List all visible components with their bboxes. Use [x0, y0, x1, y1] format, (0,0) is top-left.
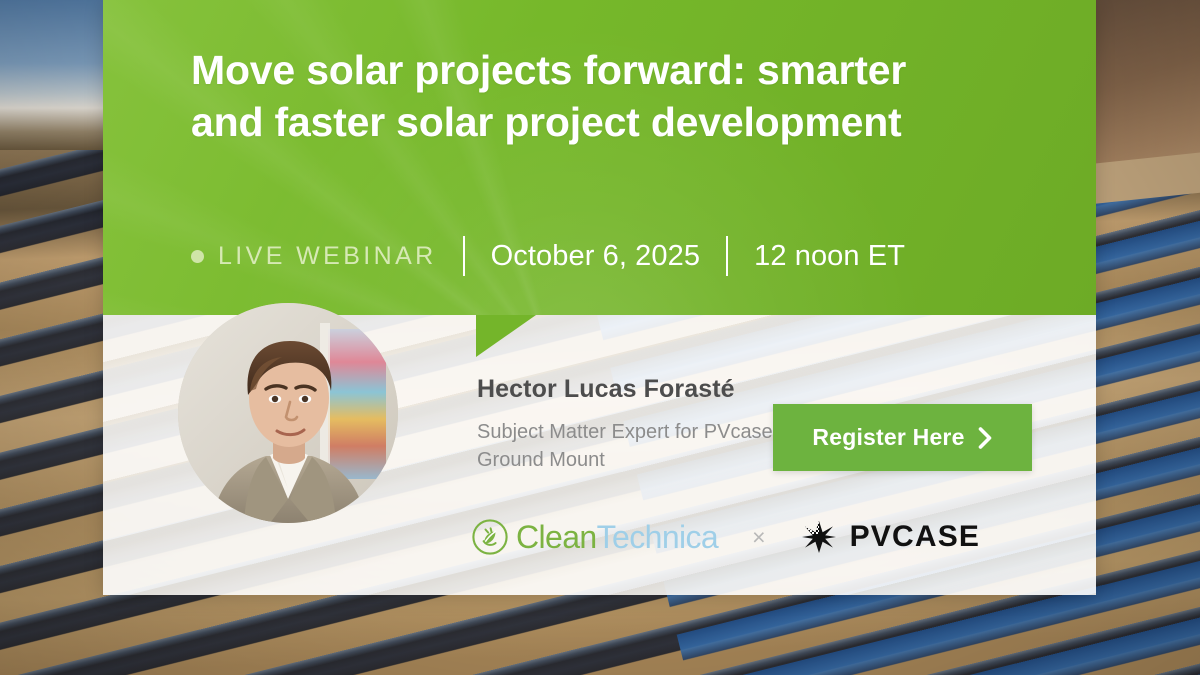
cleantechnica-leaf-plug-icon: [471, 518, 509, 556]
speaker-role: Subject Matter Expert for PVcase Ground …: [477, 418, 777, 475]
speaker-name: Hector Lucas Forasté: [477, 375, 735, 404]
speaker-headshot-illustration: [178, 303, 398, 523]
pvcase-logo[interactable]: PVCASE: [800, 518, 981, 556]
live-dot-icon: [191, 250, 204, 263]
webinar-time: 12 noon ET: [754, 240, 905, 273]
pvcase-wordmark: PVCASE: [850, 520, 981, 554]
promo-graphic: Move solar projects forward: smarter and…: [0, 0, 1200, 675]
cleantechnica-word-technica: Technica: [597, 519, 719, 555]
cleantechnica-logo[interactable]: CleanTechnica: [471, 518, 718, 556]
page-title: Move solar projects forward: smarter and…: [191, 44, 981, 148]
webinar-meta-row: LIVE WEBINAR October 6, 2025 12 noon ET: [191, 233, 905, 279]
register-here-button[interactable]: Register Here: [773, 404, 1032, 471]
cleantechnica-word-clean: Clean: [516, 519, 597, 555]
webinar-date: October 6, 2025: [491, 240, 700, 273]
chevron-right-icon: [978, 427, 993, 449]
live-webinar-badge: LIVE WEBINAR: [191, 242, 437, 271]
meta-divider-2: [726, 236, 728, 276]
register-button-label: Register Here: [812, 424, 964, 451]
pvcase-starburst-icon: [800, 518, 838, 556]
promo-card: Move solar projects forward: smarter and…: [103, 0, 1096, 595]
meta-divider-1: [463, 236, 465, 276]
avatar: [178, 303, 398, 523]
cleantechnica-wordmark: CleanTechnica: [516, 519, 718, 556]
logo-separator-x: ×: [752, 526, 765, 549]
live-webinar-label: LIVE WEBINAR: [218, 242, 437, 271]
logo-row: CleanTechnica ×: [471, 512, 980, 562]
